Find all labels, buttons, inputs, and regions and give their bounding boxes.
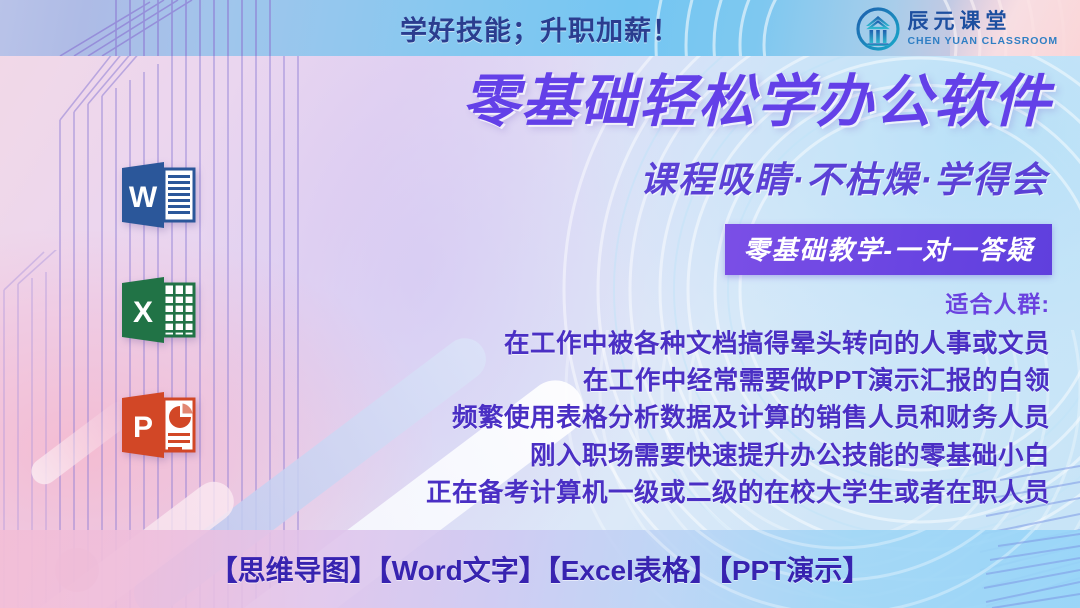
list-item: 刚入职场需要快速提升办公技能的零基础小白	[426, 438, 1050, 475]
list-item: 正在备考计算机一级或二级的在校大学生或者在职人员	[426, 475, 1050, 512]
microsoft-word-icon: W	[118, 158, 198, 238]
microsoft-powerpoint-icon: P	[118, 388, 198, 468]
status-badge: 零基础教学-一对一答疑	[725, 224, 1052, 275]
promo-poster: 学好技能；升职加薪！ 辰元课堂 CHEN YUAN	[0, 0, 1080, 608]
brand-logo-text: 辰元课堂 CHEN YUAN CLASSROOM	[908, 11, 1059, 47]
subtitle: 课程吸睛·不枯燥·学得会	[640, 162, 1048, 198]
office-icon-group: W X P	[118, 158, 198, 503]
list-item: 频繁使用表格分析数据及计算的销售人员和财务人员	[426, 400, 1050, 437]
module-list-text: 【思维导图】【Word文字】【Excel表格】【PPT演示】	[0, 530, 1080, 608]
academy-building-logo-icon	[856, 7, 900, 51]
brand-logo: 辰元课堂 CHEN YUAN CLASSROOM	[856, 5, 1059, 53]
svg-text:P: P	[133, 411, 153, 444]
page-title: 零基础轻松学办公软件	[462, 74, 1052, 131]
audience-label: 适合人群:	[945, 285, 1050, 319]
brand-name-cn: 辰元课堂	[908, 11, 1059, 32]
microsoft-excel-icon: X	[118, 273, 198, 353]
audience-list: 在工作中被各种文档搞得晕头转向的人事或文员 在工作中经常需要做PPT演示汇报的白…	[426, 326, 1050, 512]
list-item: 在工作中经常需要做PPT演示汇报的白领	[426, 363, 1050, 400]
svg-text:X: X	[133, 296, 153, 329]
list-item: 在工作中被各种文档搞得晕头转向的人事或文员	[426, 326, 1050, 363]
svg-text:W: W	[129, 181, 158, 214]
brand-name-en: CHEN YUAN CLASSROOM	[908, 36, 1059, 47]
